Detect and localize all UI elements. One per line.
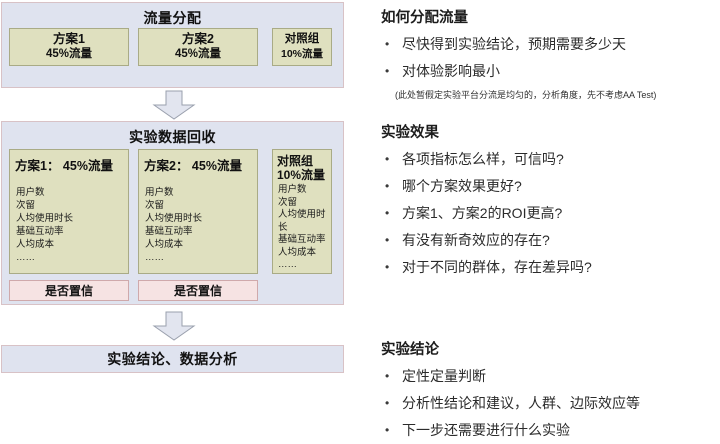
confidence-box-plan1: 是否置信 <box>9 280 129 301</box>
collection-group-plan1: 方案1： 45%流量 用户数 次留 人均使用时长 基础互动率 人均成本 …… <box>9 149 129 274</box>
allocation-group-plan1-header: 方案1 45%流量 <box>10 29 128 62</box>
notes-section-allocation: 如何分配流量 尽快得到实验结论，预期需要多少天 对体验影响最小 (此处暂假定实验… <box>381 6 720 102</box>
metric-item: …… <box>278 259 331 272</box>
metric-item: 用户数 <box>16 186 128 199</box>
notes-section-conclusion-bullets: 定性定量判断 分析性结论和建议，人群、边际效应等 下一步还需要进行什么实验 <box>381 363 720 444</box>
bullet-item: 对体验影响最小 <box>381 58 720 85</box>
allocation-group-plan1-name: 方案1 <box>53 32 85 46</box>
allocation-group-plan2: 方案2 45%流量 <box>138 28 258 66</box>
collection-group-plan2-metrics: 用户数 次留 人均使用时长 基础互动率 人均成本 …… <box>139 174 257 264</box>
collection-group-control-name: 对照组 <box>277 154 313 168</box>
collection-group-plan1-metrics: 用户数 次留 人均使用时长 基础互动率 人均成本 …… <box>10 174 128 264</box>
metric-item: 用户数 <box>278 184 331 197</box>
data-collection-title: 实验数据回收 <box>2 127 343 147</box>
traffic-allocation-panel: 流量分配 方案1 45%流量 方案2 45%流量 对照组 10%流量 <box>1 2 344 88</box>
traffic-allocation-title: 流量分配 <box>2 8 343 28</box>
notes-section-allocation-title: 如何分配流量 <box>381 6 720 27</box>
metric-item: 人均使用时长 <box>145 212 257 225</box>
allocation-group-control-header: 对照组 10%流量 <box>273 29 331 62</box>
metric-item: 人均使用时长 <box>278 209 331 234</box>
metric-item: …… <box>16 251 128 264</box>
metric-item: 次留 <box>145 199 257 212</box>
bullet-item: 方案1、方案2的ROI更高? <box>381 200 720 227</box>
metric-item: 用户数 <box>145 186 257 199</box>
metric-item: 基础互动率 <box>16 225 128 238</box>
allocation-group-plan2-traffic: 45%流量 <box>139 47 257 62</box>
bullet-item: 对于不同的群体，存在差异吗? <box>381 254 720 281</box>
collection-group-plan1-header: 方案1： 45%流量 <box>10 150 128 174</box>
bullet-item: 尽快得到实验结论，预期需要多少天 <box>381 31 720 58</box>
metric-item: 基础互动率 <box>145 225 257 238</box>
notes-section-conclusion: 实验结论 定性定量判断 分析性结论和建议，人群、边际效应等 下一步还需要进行什么… <box>381 338 720 444</box>
notes-section-allocation-bullets: 尽快得到实验结论，预期需要多少天 对体验影响最小 <box>381 31 720 85</box>
allocation-group-control: 对照组 10%流量 <box>272 28 332 66</box>
bullet-item: 哪个方案效果更好? <box>381 173 720 200</box>
metric-item: 人均成本 <box>278 247 331 260</box>
conclusion-panel: 实验结论、数据分析 <box>1 345 344 373</box>
notes-section-effect: 实验效果 各项指标怎么样，可信吗? 哪个方案效果更好? 方案1、方案2的ROI更… <box>381 121 720 281</box>
metric-item: …… <box>145 251 257 264</box>
metric-item: 人均成本 <box>16 238 128 251</box>
confidence-box-plan2: 是否置信 <box>138 280 258 301</box>
metric-item: 次留 <box>278 197 331 210</box>
down-arrow-icon <box>152 311 196 341</box>
notes-section-effect-title: 实验效果 <box>381 121 720 142</box>
notes-section-allocation-note: (此处暂假定实验平台分流是均匀的，分析角度，先不考虑AA Test) <box>381 88 720 102</box>
metric-item: 次留 <box>16 199 128 212</box>
bullet-item: 分析性结论和建议，人群、边际效应等 <box>381 390 720 417</box>
allocation-group-control-traffic: 10%流量 <box>273 47 331 62</box>
allocation-group-control-name: 对照组 <box>285 33 320 45</box>
allocation-group-plan2-name: 方案2 <box>182 32 214 46</box>
collection-group-plan2-header: 方案2： 45%流量 <box>139 150 257 174</box>
allocation-group-plan2-header: 方案2 45%流量 <box>139 29 257 62</box>
collection-group-control-traffic: 10%流量 <box>277 168 331 182</box>
collection-group-control-header: 对照组 10%流量 <box>273 150 331 182</box>
allocation-group-plan1: 方案1 45%流量 <box>9 28 129 66</box>
notes-section-effect-bullets: 各项指标怎么样，可信吗? 哪个方案效果更好? 方案1、方案2的ROI更高? 有没… <box>381 146 720 281</box>
metric-item: 基础互动率 <box>278 234 331 247</box>
notes-section-conclusion-title: 实验结论 <box>381 338 720 359</box>
data-collection-panel: 实验数据回收 方案1： 45%流量 用户数 次留 人均使用时长 基础互动率 人均… <box>1 121 344 305</box>
down-arrow-icon <box>152 90 196 120</box>
allocation-group-plan1-traffic: 45%流量 <box>10 47 128 62</box>
collection-group-control-metrics: 用户数 次留 人均使用时长 基础互动率 人均成本 …… <box>273 182 331 272</box>
bullet-item: 定性定量判断 <box>381 363 720 390</box>
flow-diagram: 流量分配 方案1 45%流量 方案2 45%流量 对照组 10%流量 实 <box>0 0 346 422</box>
metric-item: 人均成本 <box>145 238 257 251</box>
metric-item: 人均使用时长 <box>16 212 128 225</box>
bullet-item: 各项指标怎么样，可信吗? <box>381 146 720 173</box>
bullet-item: 有没有新奇效应的存在? <box>381 227 720 254</box>
notes-column: 如何分配流量 尽快得到实验结论，预期需要多少天 对体验影响最小 (此处暂假定实验… <box>378 0 718 422</box>
collection-group-plan2: 方案2： 45%流量 用户数 次留 人均使用时长 基础互动率 人均成本 …… <box>138 149 258 274</box>
bullet-item: 下一步还需要进行什么实验 <box>381 417 720 444</box>
conclusion-title: 实验结论、数据分析 <box>2 346 343 372</box>
collection-group-control: 对照组 10%流量 用户数 次留 人均使用时长 基础互动率 人均成本 …… <box>272 149 332 274</box>
